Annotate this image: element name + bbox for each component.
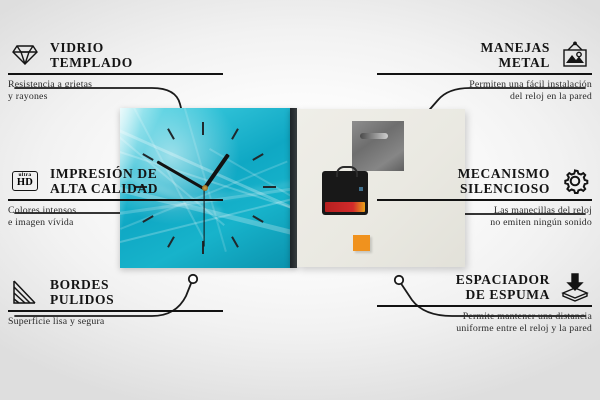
hour-marker (231, 236, 239, 247)
feature-description: Permiten una fácil instalacióndel reloj … (377, 79, 592, 104)
hour-marker (167, 128, 175, 139)
hour-marker (202, 122, 204, 135)
feature-description: Permite mantener una distanciauniforme e… (377, 311, 592, 336)
diamond-icon (8, 40, 42, 70)
feature-description: Las manecillas del relojno emiten ningún… (377, 205, 592, 230)
feature-mecanismo-silencioso: MECANISMOSILENCIOSO Las manecillas del r… (377, 166, 592, 229)
clock-side-edge (290, 108, 297, 268)
ultra-hd-icon: ultra HD (8, 166, 42, 196)
feature-description: Superficie lisa y segura (8, 316, 223, 328)
gear-icon (558, 166, 592, 196)
metal-hanger-plate (352, 121, 404, 171)
feature-bordes-pulidos: BORDESPULIDOS Superficie lisa y segura (8, 277, 223, 328)
clock-mechanism (322, 171, 368, 215)
feature-title: IMPRESIÓN DEALTA CALIDAD (50, 166, 158, 196)
feature-title: MANEJASMETAL (481, 40, 550, 70)
feature-description: Resistencia a grietasy rayones (8, 79, 223, 104)
divider (8, 199, 223, 201)
divider (8, 73, 223, 75)
feature-title: VIDRIOTEMPLADO (50, 40, 133, 70)
divider (377, 73, 592, 75)
infographic-canvas: VIDRIOTEMPLADO Resistencia a grietasy ra… (0, 0, 600, 400)
feature-espaciador-espuma: ESPACIADORDE ESPUMA Permite mantener una… (377, 272, 592, 335)
hour-marker (167, 236, 175, 247)
divider (8, 310, 223, 312)
feature-title: BORDESPULIDOS (50, 277, 114, 307)
arrow-down-onto-pad-icon (558, 272, 592, 302)
feature-impresion-alta-calidad: ultra HD IMPRESIÓN DEALTA CALIDAD Colore… (8, 166, 223, 229)
battery (325, 202, 365, 212)
feature-title: MECANISMOSILENCIOSO (458, 166, 550, 196)
foam-spacer (353, 235, 370, 251)
divider (377, 199, 592, 201)
feature-title: ESPACIADORDE ESPUMA (456, 272, 550, 302)
hanging-picture-frame-icon (558, 40, 592, 70)
feature-description: Colores intensose imagen vívida (8, 205, 223, 230)
divider (377, 305, 592, 307)
hour-marker (231, 128, 239, 139)
hour-marker (263, 186, 276, 188)
hour-marker (252, 153, 263, 161)
polished-edge-icon (8, 277, 42, 307)
feature-vidrio-templado: VIDRIOTEMPLADO Resistencia a grietasy ra… (8, 40, 223, 103)
feature-manejas-metal: MANEJASMETAL Permiten una fácil instalac… (377, 40, 592, 103)
